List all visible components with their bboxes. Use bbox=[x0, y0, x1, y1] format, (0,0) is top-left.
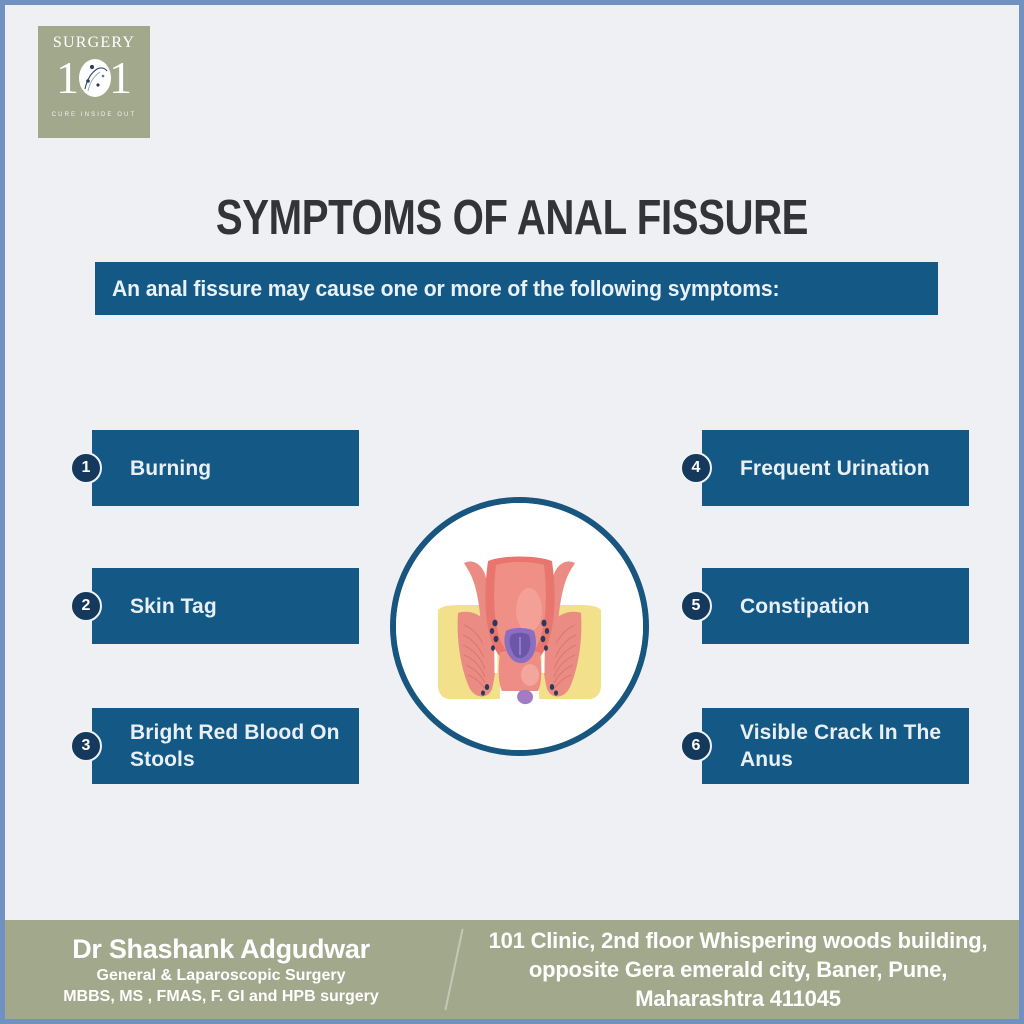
infographic-page: SURGERY 1 1 CURE INSIDE OUT SYMPTOMS OF … bbox=[0, 0, 1024, 1024]
logo-emblem-svg bbox=[79, 59, 111, 97]
symptom-label: Constipation bbox=[702, 593, 880, 620]
symptom-item-3[interactable]: Bright Red Blood On Stools 3 bbox=[92, 708, 359, 784]
symptom-bar: Frequent Urination bbox=[702, 430, 969, 506]
symptom-number-badge: 6 bbox=[680, 730, 712, 762]
symptom-bar: Burning bbox=[92, 430, 359, 506]
logo-101-mark: 1 1 bbox=[48, 55, 140, 103]
subtitle-text: An anal fissure may cause one or more of… bbox=[112, 276, 780, 302]
logo-anatomy-emblem-icon bbox=[79, 59, 111, 97]
doctor-name: Dr Shashank Adgudwar bbox=[72, 934, 370, 965]
symptom-number-badge: 5 bbox=[680, 590, 712, 622]
symptom-item-1[interactable]: Burning 1 bbox=[92, 430, 359, 506]
symptom-bar: Visible Crack In The Anus bbox=[702, 708, 969, 784]
symptom-label: Frequent Urination bbox=[702, 455, 940, 482]
symptom-item-2[interactable]: Skin Tag 2 bbox=[92, 568, 359, 644]
symptom-label: Burning bbox=[92, 455, 221, 482]
footer-doctor-block: Dr Shashank Adgudwar General & Laparosco… bbox=[5, 920, 437, 1019]
subtitle-banner: An anal fissure may cause one or more of… bbox=[95, 262, 938, 315]
logo-digit-left: 1 bbox=[56, 55, 79, 101]
anatomy-diagram-svg bbox=[396, 503, 643, 750]
logo-wordmark: SURGERY bbox=[53, 35, 135, 51]
footer-address-block: 101 Clinic, 2nd floor Whispering woods b… bbox=[471, 920, 1019, 1019]
clinic-address: 101 Clinic, 2nd floor Whispering woods b… bbox=[471, 926, 1005, 1013]
doctor-credentials: MBBS, MS , FMAS, F. GI and HPB surgery bbox=[63, 986, 379, 1007]
symptom-item-5[interactable]: Constipation 5 bbox=[702, 568, 969, 644]
logo-tagline: CURE INSIDE OUT bbox=[52, 112, 137, 118]
footer-bar: Dr Shashank Adgudwar General & Laparosco… bbox=[5, 920, 1019, 1019]
logo-digit-right: 1 bbox=[109, 55, 132, 101]
symptom-bar: Skin Tag bbox=[92, 568, 359, 644]
symptom-number-badge: 2 bbox=[70, 590, 102, 622]
page-title: SYMPTOMS OF ANAL FISSURE bbox=[96, 191, 927, 245]
anal-canal-illustration bbox=[390, 497, 649, 756]
symptom-bar: Bright Red Blood On Stools bbox=[92, 708, 359, 784]
footer-divider bbox=[437, 920, 471, 1019]
brand-logo[interactable]: SURGERY 1 1 CURE INSIDE OUT bbox=[38, 26, 150, 138]
symptom-number-badge: 1 bbox=[70, 452, 102, 484]
doctor-specialty: General & Laparoscopic Surgery bbox=[97, 965, 346, 986]
symptom-label: Skin Tag bbox=[92, 593, 227, 620]
symptom-label: Visible Crack In The Anus bbox=[702, 719, 969, 773]
symptom-item-4[interactable]: Frequent Urination 4 bbox=[702, 430, 969, 506]
symptom-label: Bright Red Blood On Stools bbox=[92, 719, 359, 773]
symptom-number-badge: 4 bbox=[680, 452, 712, 484]
symptom-item-6[interactable]: Visible Crack In The Anus 6 bbox=[702, 708, 969, 784]
symptom-number-badge: 3 bbox=[70, 730, 102, 762]
symptom-bar: Constipation bbox=[702, 568, 969, 644]
